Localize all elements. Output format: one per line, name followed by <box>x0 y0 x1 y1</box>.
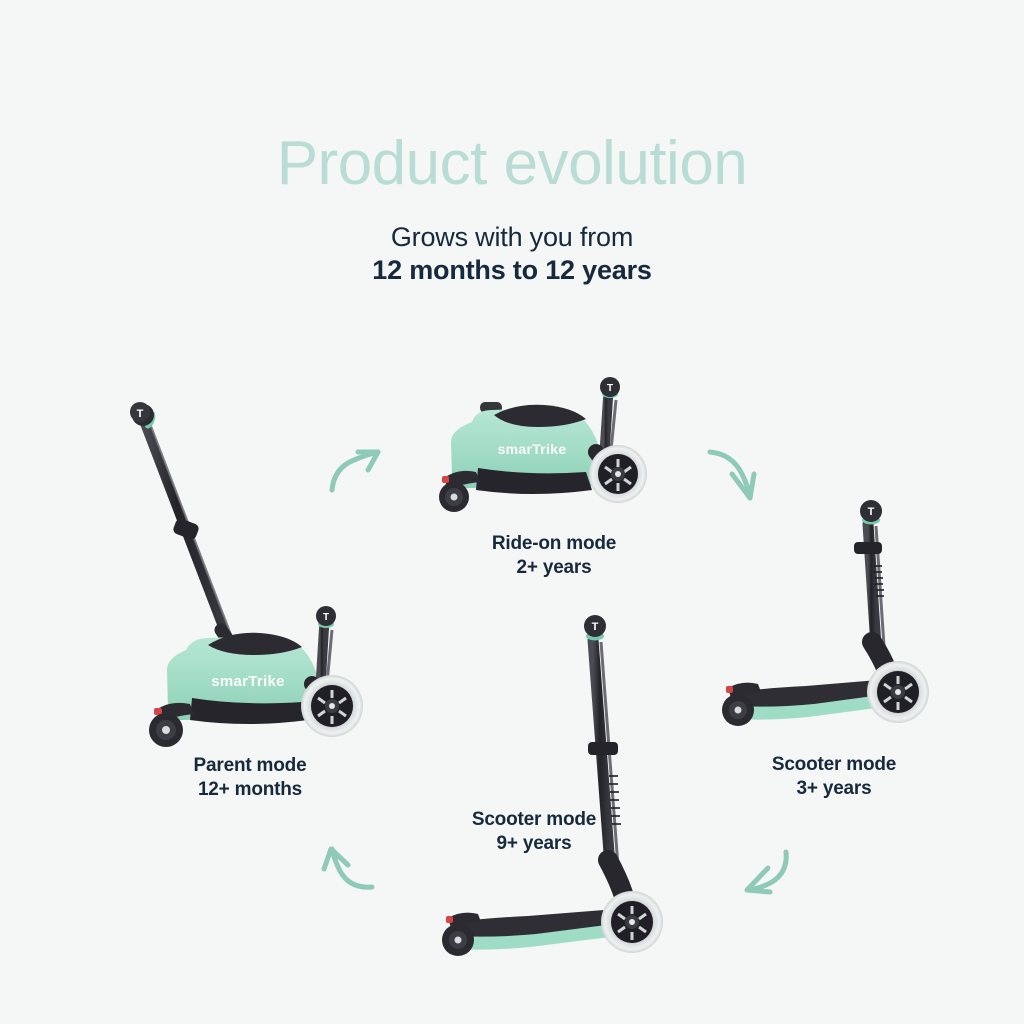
scooter-stem-9 <box>588 640 626 904</box>
subtitle-line-2: 12 months to 12 years <box>0 254 1024 287</box>
caption-age-label: 12+ months <box>128 778 372 802</box>
t-knob-scooter-9: T <box>584 615 606 641</box>
subtitle-line-1: Grows with you from <box>0 221 1024 254</box>
svg-text:T: T <box>592 621 599 633</box>
caption-mode-label: Parent mode <box>128 754 372 778</box>
svg-text:T: T <box>868 506 875 518</box>
rear-wheel-parent <box>301 675 363 737</box>
parent-handle-bar <box>144 422 235 650</box>
product-image-scooter-mode-9: T <box>438 604 688 976</box>
caption-ride-on-mode: Ride-on mode 2+ years <box>432 532 676 580</box>
t-knob-scooter-3: T <box>860 500 882 525</box>
svg-text:T: T <box>137 408 144 420</box>
rear-wheel-scooter-9 <box>601 891 663 953</box>
rear-wheel-rideon <box>589 445 647 503</box>
product-evolution-infographic: Product evolution Grows with you from 12… <box>0 0 1024 1024</box>
svg-text:T: T <box>323 612 329 623</box>
caption-mode-label: Ride-on mode <box>432 532 676 556</box>
arrow-scooter3-to-scooter9-icon <box>742 848 798 896</box>
product-image-scooter-mode-3: T <box>716 496 966 746</box>
front-wheel-parent <box>149 703 194 747</box>
brand-logo-rideon: smarTrike <box>498 441 567 457</box>
front-wheel-rideon <box>439 471 480 512</box>
brand-logo-parent: smarTrike <box>211 673 285 690</box>
t-knob-parent-handle: T <box>130 402 157 430</box>
caption-mode-label: Scooter mode <box>712 753 956 777</box>
scooter-stem-3 <box>854 524 890 680</box>
page-title: Product evolution <box>0 129 1024 199</box>
caption-age-label: 3+ years <box>712 777 956 801</box>
arrow-scooter9-to-parent-icon <box>320 845 376 893</box>
caption-scooter-mode-9: Scooter mode 9+ years <box>412 808 656 856</box>
arrow-parent-to-rideon-icon <box>328 448 384 494</box>
product-image-ride-on-mode: smarTrike T <box>428 382 686 522</box>
caption-age-label: 9+ years <box>412 832 656 856</box>
svg-text:T: T <box>607 383 613 394</box>
rear-wheel-scooter-3 <box>867 661 929 723</box>
caption-parent-mode: Parent mode 12+ months <box>128 754 372 802</box>
caption-age-label: 2+ years <box>432 556 676 580</box>
caption-scooter-mode-3: Scooter mode 3+ years <box>712 753 956 801</box>
arrow-rideon-to-scooter3-icon <box>706 446 760 502</box>
caption-mode-label: Scooter mode <box>412 808 656 832</box>
